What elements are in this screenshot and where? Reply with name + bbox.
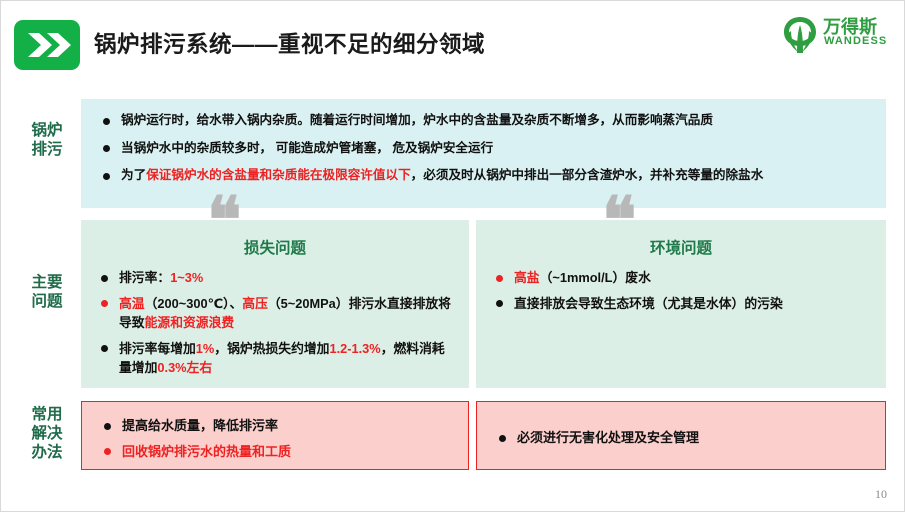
bullet-text-segment: （~1mmol/L）废水 (540, 270, 651, 285)
bullet-item: 当锅炉水中的杂质较多时， 可能造成炉管堵塞， 危及锅炉安全运行 (95, 139, 872, 159)
bullet-text-segment: 能源和资源浪费 (145, 315, 235, 330)
bullet-list-solution-right: 必须进行无害化处理及安全管理 (491, 428, 871, 448)
bullet-text-segment: 高压 (242, 296, 268, 311)
bullet-text-segment: 为了 (121, 168, 146, 182)
slide-header: 锅炉排污系统——重视不足的细分领域 万得斯 WANDESS (1, 1, 905, 83)
bullet-text-segment: 保证锅炉水的含盐量和杂质能在极限容许值以下 (146, 168, 410, 182)
bullet-dot-icon (101, 345, 108, 352)
page-number: 10 (875, 487, 887, 502)
bullet-text-segment: 1~3% (170, 270, 203, 285)
row-label-boiler-blowdown: 锅炉排污 (19, 121, 75, 159)
bullet-list-boiler: 锅炉运行时，给水带入锅内杂质。随着运行时间增加，炉水中的含盐量及杂质不断增多，从… (95, 111, 872, 186)
bullet-text-segment: （200~300℃）、 (145, 296, 243, 311)
bullet-item: 排污率每增加1%，锅炉热损失约增加1.2-1.3%，燃料消耗量增加0.3%左右 (93, 339, 455, 378)
bullet-text-segment: 当锅炉水中的杂质较多时， 可能造成炉管堵塞， 危及锅炉安全运行 (121, 141, 493, 155)
panel-loss-problem: 损失问题 排污率：1~3%高温（200~300℃）、高压（5~20MPa）排污水… (81, 220, 469, 388)
bullet-dot-icon (101, 275, 108, 282)
bullet-text-segment: 1.2-1.3% (329, 341, 380, 356)
bullet-dot-icon (496, 300, 503, 307)
bullet-dot-icon (103, 118, 110, 125)
bullet-text-segment: 必须进行无害化处理及安全管理 (517, 430, 699, 445)
bullet-item: 锅炉运行时，给水带入锅内杂质。随着运行时间增加，炉水中的含盐量及杂质不断增多，从… (95, 111, 872, 131)
row-label-common-solutions: 常用解决办法 (19, 405, 75, 462)
bullet-item: 排污率：1~3% (93, 268, 455, 288)
slide-root: 锅炉排污系统——重视不足的细分领域 万得斯 WANDESS 锅炉排污 主要问题 … (0, 0, 905, 512)
bullet-item: 直接排放会导致生态环境（尤其是水体）的污染 (488, 294, 872, 314)
logo-name-en: WANDESS (824, 35, 887, 47)
double-chevron-right-icon (14, 20, 80, 70)
panel-environment-problem: 环境问题 高盐（~1mmol/L）废水直接排放会导致生态环境（尤其是水体）的污染 (476, 220, 886, 388)
bullet-dot-icon (496, 275, 503, 282)
panel-title-environment: 环境问题 (476, 236, 886, 258)
bullet-text-segment: 1% (196, 341, 215, 356)
bullet-text-segment: 高温 (119, 296, 145, 311)
bullet-dot-icon (103, 173, 110, 180)
wandess-leaf-logo-icon (781, 15, 819, 60)
page-title: 锅炉排污系统——重视不足的细分领域 (94, 27, 485, 59)
panel-boiler-blowdown: 锅炉运行时，给水带入锅内杂质。随着运行时间增加，炉水中的含盐量及杂质不断增多，从… (81, 99, 886, 208)
bullet-text-segment: ，锅炉热损失约增加 (214, 341, 329, 356)
brand-logo: 万得斯 WANDESS (781, 13, 893, 57)
panel-solution-right: 必须进行无害化处理及安全管理 (476, 401, 886, 470)
bullet-dot-icon (103, 145, 110, 152)
bullet-item: 高温（200~300℃）、高压（5~20MPa）排污水直接排放将导致能源和资源浪… (93, 294, 455, 333)
bullet-item: 高盐（~1mmol/L）废水 (488, 268, 872, 288)
bullet-text-segment: 提高给水质量，降低排污率 (122, 418, 278, 433)
bullet-item: 提高给水质量，降低排污率 (96, 416, 454, 436)
bullet-text-segment: 高盐 (514, 270, 540, 285)
bullet-dot-icon (101, 300, 108, 307)
panel-title-loss: 损失问题 (81, 236, 469, 258)
bullet-item: 为了保证锅炉水的含盐量和杂质能在极限容许值以下，必须及时从锅炉中排出一部分含渣炉… (95, 166, 872, 186)
bullet-list-environment: 高盐（~1mmol/L）废水直接排放会导致生态环境（尤其是水体）的污染 (488, 268, 872, 313)
bullet-list-loss: 排污率：1~3%高温（200~300℃）、高压（5~20MPa）排污水直接排放将… (93, 268, 455, 378)
bullet-dot-icon (104, 448, 111, 455)
bullet-item: 回收锅炉排污水的热量和工质 (96, 442, 454, 462)
bullet-text-segment: 直接排放会导致生态环境（尤其是水体）的污染 (514, 296, 783, 311)
bullet-item: 必须进行无害化处理及安全管理 (491, 428, 871, 448)
bullet-list-solution-left: 提高给水质量，降低排污率回收锅炉排污水的热量和工质 (96, 416, 454, 461)
bullet-text-segment: ，必须及时从锅炉中排出一部分含渣炉水，并补充等量的除盐水 (411, 168, 764, 182)
bullet-text-segment: 回收锅炉排污水的热量和工质 (122, 444, 291, 459)
bullet-text-segment: 排污率： (119, 270, 170, 285)
bullet-text-segment: 0.3%左右 (157, 360, 212, 375)
bullet-text-segment: 排污率每增加 (119, 341, 196, 356)
bullet-text-segment: 锅炉运行时，给水带入锅内杂质。随着运行时间增加，炉水中的含盐量及杂质不断增多，从… (121, 113, 713, 127)
bullet-dot-icon (499, 435, 506, 442)
row-label-main-problems: 主要问题 (19, 273, 75, 311)
panel-solution-left: 提高给水质量，降低排污率回收锅炉排污水的热量和工质 (81, 401, 469, 470)
bullet-dot-icon (104, 423, 111, 430)
